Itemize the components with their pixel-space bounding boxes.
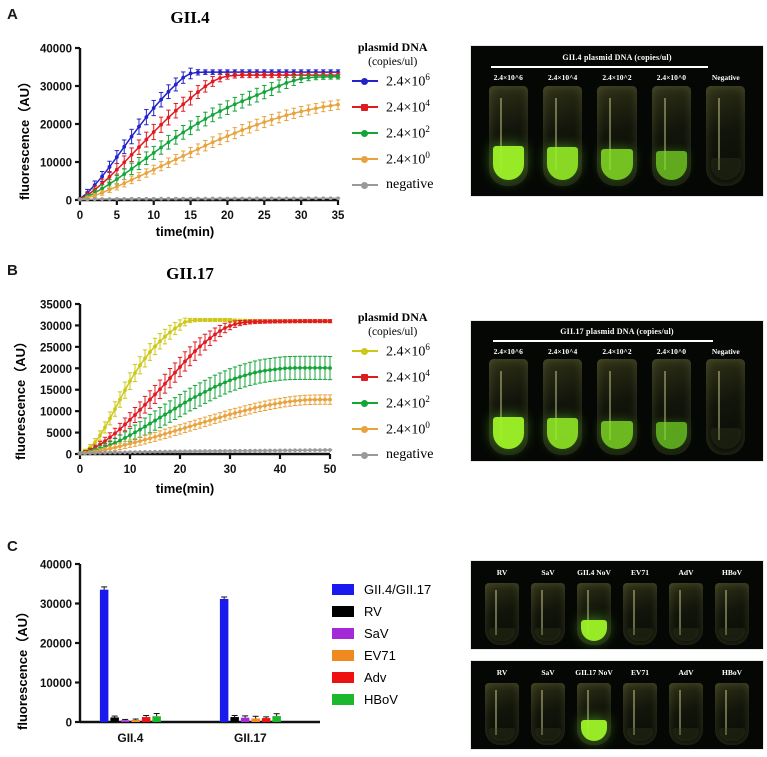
- panel-b-tube-photo: GII.17 plasmid DNA (copies/ul) 2.4×10^62…: [470, 320, 764, 462]
- reaction-tube: [577, 583, 610, 645]
- legend-item-c-3[interactable]: EV71: [332, 644, 431, 666]
- legend-item-label: EV71: [364, 648, 396, 663]
- legend-a-title: plasmid DNA: [352, 40, 433, 55]
- svg-text:5000: 5000: [46, 428, 72, 440]
- panel-c-plot: 010000200003000040000GII.4GII.17: [22, 556, 322, 757]
- legend-item-b-0[interactable]: 2.4×106: [352, 338, 433, 364]
- reaction-tube: [669, 583, 702, 645]
- svg-text:25000: 25000: [40, 342, 72, 354]
- panel-a-title: GII.4: [110, 8, 270, 28]
- svg-text:10000: 10000: [40, 158, 72, 170]
- reaction-tube: [577, 683, 610, 745]
- tube-label: Negative: [699, 347, 753, 356]
- reaction-tube: [489, 86, 528, 186]
- reaction-tube: [706, 359, 745, 455]
- tube-label: 2.4×10^6: [481, 347, 535, 356]
- tube-label: GII.4 NoV: [571, 568, 617, 577]
- reaction-tube: [715, 683, 748, 745]
- svg-text:50: 50: [324, 464, 337, 476]
- legend-item-b-4[interactable]: negative: [352, 442, 433, 468]
- reaction-tube: [652, 86, 691, 186]
- tube-label: 2.4×10^4: [535, 73, 589, 82]
- tube-label: 2.4×10^2: [590, 73, 644, 82]
- tube-label: 2.4×10^6: [481, 73, 535, 82]
- svg-text:5: 5: [114, 210, 121, 222]
- panel-c-legend: GII.4/GII.17RVSaVEV71AdvHBoV: [332, 578, 431, 710]
- svg-text:10000: 10000: [40, 407, 72, 419]
- tube-label: SaV: [525, 568, 571, 577]
- legend-item-label: 2.4×106: [386, 342, 430, 361]
- legend-item-a-1[interactable]: 2.4×104: [352, 94, 433, 120]
- legend-b-subtitle: (copies/ul): [352, 326, 433, 338]
- svg-text:15000: 15000: [40, 385, 72, 397]
- tube-label: AdV: [663, 668, 709, 677]
- legend-item-b-2[interactable]: 2.4×102: [352, 390, 433, 416]
- tube-label: 2.4×10^0: [644, 73, 698, 82]
- legend-item-a-3[interactable]: 2.4×100: [352, 146, 433, 172]
- panel-b-title: GII.17: [110, 264, 270, 284]
- svg-text:30000: 30000: [40, 599, 72, 611]
- panel-b-legend: plasmid DNA (copies/ul) 2.4×1062.4×1042.…: [352, 310, 433, 468]
- reaction-tube: [531, 683, 564, 745]
- svg-text:10: 10: [147, 210, 160, 222]
- tube-fluorescence: [601, 149, 632, 180]
- reaction-tube: [489, 359, 528, 455]
- legend-color-swatch: [332, 650, 354, 661]
- legend-item-label: 2.4×100: [386, 150, 430, 169]
- reaction-tube: [531, 583, 564, 645]
- legend-a-subtitle: (copies/ul): [352, 56, 433, 68]
- legend-item-label: negative: [386, 177, 433, 193]
- legend-b-title: plasmid DNA: [352, 310, 433, 325]
- tube-label: 2.4×10^0: [644, 347, 698, 356]
- tube-label: 2.4×10^2: [590, 347, 644, 356]
- svg-text:20000: 20000: [40, 639, 72, 651]
- panel-a-plot: 01000020000300004000005101520253035: [22, 40, 347, 230]
- legend-item-a-0[interactable]: 2.4×106: [352, 68, 433, 94]
- legend-color-swatch: [332, 694, 354, 705]
- panel-c-tube-photo-top: RVSaVGII.4 NoVEV71AdVHBoV: [470, 560, 764, 650]
- reaction-tube: [715, 583, 748, 645]
- reaction-tube: [623, 583, 656, 645]
- panel-a-photo-caption: GII.4 plasmid DNA (copies/ul): [471, 53, 763, 62]
- legend-line-swatch: [352, 184, 378, 186]
- panel-c-tube-photo-bottom: RVSaVGII.17 NoVEV71AdVHBoV: [470, 660, 764, 750]
- caption-underline: [491, 66, 708, 68]
- tube-label: 2.4×10^4: [535, 347, 589, 356]
- legend-line-swatch: [352, 80, 378, 82]
- caption-underline: [493, 340, 713, 342]
- panel-b-plot: 0500010000150002000025000300003500001020…: [14, 296, 347, 484]
- legend-item-c-2[interactable]: SaV: [332, 622, 431, 644]
- panel-a-legend: plasmid DNA (copies/ul) 2.4×1062.4×1042.…: [352, 40, 433, 198]
- svg-text:0: 0: [66, 196, 72, 208]
- svg-text:40000: 40000: [40, 44, 72, 56]
- svg-text:0: 0: [66, 450, 72, 462]
- reaction-tube: [623, 683, 656, 745]
- svg-text:40: 40: [274, 464, 287, 476]
- tube-label: EV71: [617, 568, 663, 577]
- svg-text:0: 0: [66, 718, 72, 730]
- legend-item-label: RV: [364, 604, 382, 619]
- svg-text:15: 15: [184, 210, 197, 222]
- legend-item-label: Adv: [364, 670, 386, 685]
- panel-letter-c: C: [7, 538, 18, 555]
- legend-line-swatch: [352, 402, 378, 404]
- svg-text:10: 10: [124, 464, 137, 476]
- legend-item-label: 2.4×102: [386, 394, 430, 413]
- legend-color-swatch: [332, 584, 354, 595]
- reaction-tube: [597, 86, 636, 186]
- svg-text:20: 20: [221, 210, 234, 222]
- svg-text:GII.17: GII.17: [234, 731, 267, 745]
- legend-item-label: 2.4×104: [386, 98, 430, 117]
- reaction-tube: [485, 683, 518, 745]
- legend-item-b-1[interactable]: 2.4×104: [352, 364, 433, 390]
- legend-item-c-4[interactable]: Adv: [332, 666, 431, 688]
- svg-text:20000: 20000: [40, 364, 72, 376]
- svg-text:10000: 10000: [40, 678, 72, 690]
- svg-text:30: 30: [295, 210, 308, 222]
- legend-color-swatch: [332, 672, 354, 683]
- legend-color-swatch: [332, 606, 354, 617]
- legend-item-label: negative: [386, 447, 433, 463]
- legend-item-label: 2.4×106: [386, 72, 430, 91]
- svg-text:35000: 35000: [40, 300, 72, 312]
- panel-b-photo-caption: GII.17 plasmid DNA (copies/ul): [471, 327, 763, 336]
- svg-text:GII.4: GII.4: [117, 731, 143, 745]
- legend-item-a-2[interactable]: 2.4×102: [352, 120, 433, 146]
- panel-letter-b: B: [7, 262, 18, 279]
- tube-label: EV71: [617, 668, 663, 677]
- tube-label: SaV: [525, 668, 571, 677]
- legend-line-swatch: [352, 428, 378, 430]
- legend-item-label: 2.4×102: [386, 124, 430, 143]
- legend-item-c-0[interactable]: GII.4/GII.17: [332, 578, 431, 600]
- tube-fluorescence: [493, 146, 524, 180]
- legend-line-swatch: [352, 350, 378, 352]
- tube-label: AdV: [663, 568, 709, 577]
- svg-text:30000: 30000: [40, 321, 72, 333]
- svg-text:20000: 20000: [40, 120, 72, 132]
- reaction-tube: [652, 359, 691, 455]
- legend-item-c-5[interactable]: HBoV: [332, 688, 431, 710]
- tube-label: HBoV: [709, 568, 755, 577]
- svg-text:30000: 30000: [40, 82, 72, 94]
- tube-fluorescence: [493, 417, 524, 450]
- svg-text:40000: 40000: [40, 560, 72, 572]
- reaction-tube: [543, 359, 582, 455]
- reaction-tube: [485, 583, 518, 645]
- legend-item-a-4[interactable]: negative: [352, 172, 433, 198]
- legend-item-label: GII.4/GII.17: [364, 582, 431, 597]
- svg-text:20: 20: [174, 464, 187, 476]
- svg-text:0: 0: [77, 210, 83, 222]
- svg-text:25: 25: [258, 210, 271, 222]
- tube-label: HBoV: [709, 668, 755, 677]
- legend-item-label: 2.4×104: [386, 368, 430, 387]
- svg-text:0: 0: [77, 464, 83, 476]
- reaction-tube: [597, 359, 636, 455]
- legend-line-swatch: [352, 158, 378, 160]
- tube-label: RV: [479, 568, 525, 577]
- legend-item-b-3[interactable]: 2.4×100: [352, 416, 433, 442]
- tube-label: Negative: [699, 73, 753, 82]
- tube-label: GII.17 NoV: [571, 668, 617, 677]
- legend-line-swatch: [352, 376, 378, 378]
- tube-fluorescence: [547, 147, 578, 180]
- legend-item-c-1[interactable]: RV: [332, 600, 431, 622]
- legend-item-label: HBoV: [364, 692, 398, 707]
- reaction-tube: [706, 86, 745, 186]
- legend-color-swatch: [332, 628, 354, 639]
- reaction-tube: [669, 683, 702, 745]
- panel-letter-a: A: [7, 6, 18, 23]
- svg-text:35: 35: [332, 210, 345, 222]
- legend-line-swatch: [352, 132, 378, 134]
- legend-item-label: 2.4×100: [386, 420, 430, 439]
- legend-line-swatch: [352, 454, 378, 456]
- legend-item-label: SaV: [364, 626, 389, 641]
- panel-a-tube-photo: GII.4 plasmid DNA (copies/ul) 2.4×10^62.…: [470, 45, 764, 197]
- tube-label: RV: [479, 668, 525, 677]
- legend-line-swatch: [352, 106, 378, 108]
- svg-text:30: 30: [224, 464, 237, 476]
- reaction-tube: [543, 86, 582, 186]
